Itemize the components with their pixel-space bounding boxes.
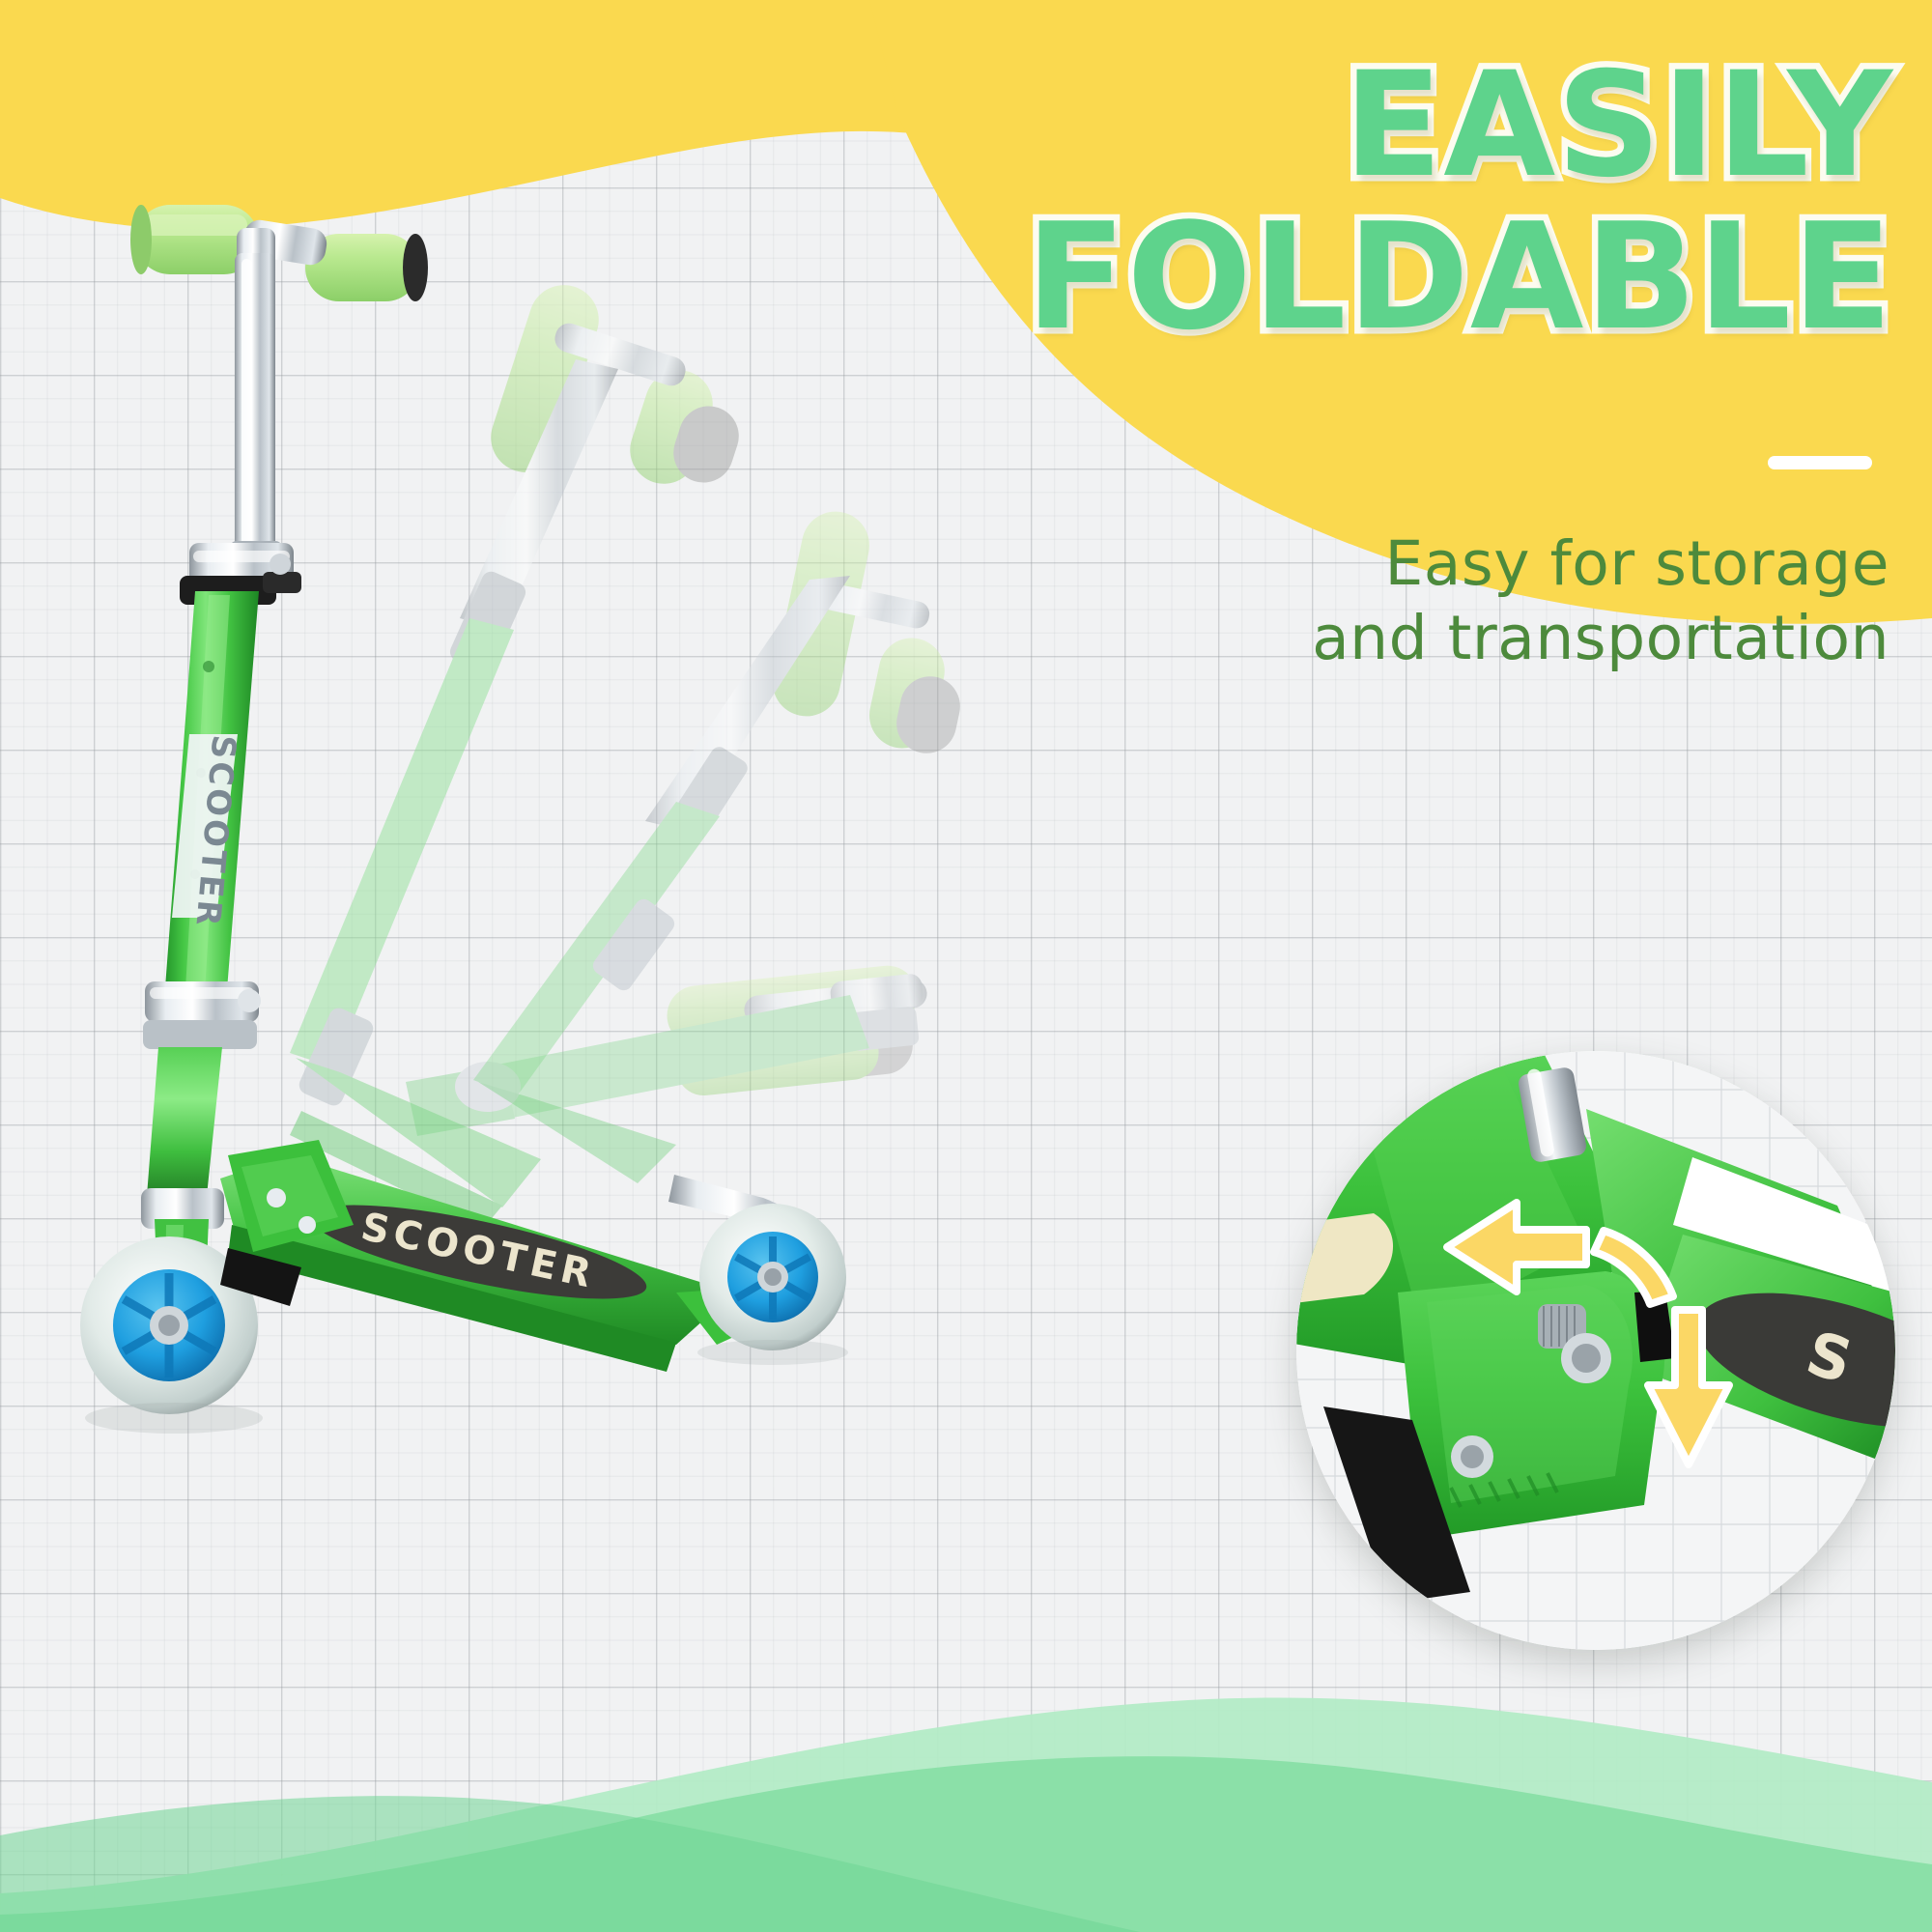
poster-canvas: SCOOTER (0, 0, 1932, 1932)
headline-line-1: EASILY (966, 53, 1893, 198)
callout-photo: S (1296, 1051, 1895, 1650)
fold-mechanism-callout: S (1296, 1051, 1895, 1650)
headline-line-2: FOLDABLE (966, 204, 1893, 351)
upright-scooter: SCOOTER (80, 205, 848, 1434)
subtitle-line-2: and transportation (923, 601, 1889, 675)
headline-block: EASILY FOLDABLE (966, 53, 1893, 351)
subtitle-line-1: Easy for storage (923, 526, 1889, 601)
headline-divider (1768, 456, 1872, 469)
subtitle-block: Easy for storage and transportation (923, 526, 1889, 676)
fold-step-3 (406, 963, 928, 1136)
